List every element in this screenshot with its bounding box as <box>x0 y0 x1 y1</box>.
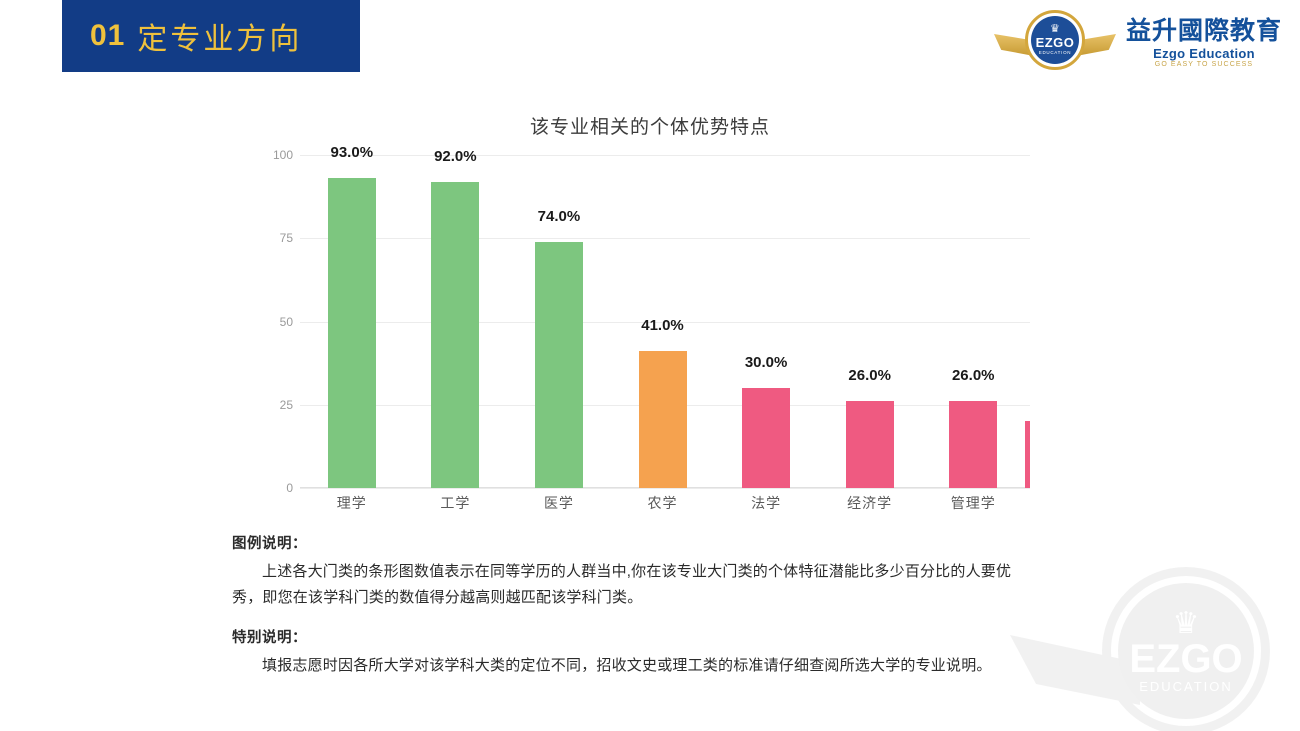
chart-bar-group[interactable]: 26.0% <box>921 155 1025 488</box>
chart-y-tick-label: 75 <box>233 231 293 245</box>
chart-x-tick-label: 农学 <box>611 493 715 513</box>
note-heading-legend: 图例说明： <box>232 532 1032 553</box>
logo-emblem-icon: ♛ EZGO EDUCATION <box>994 6 1116 80</box>
chart-x-tick-label <box>1025 493 1030 513</box>
brand-watermark: ♛ EZGO EDUCATION <box>1010 543 1300 731</box>
chart-bar-value-label: 26.0% <box>952 367 995 384</box>
logo-tagline: GO EASY TO SUCCESS <box>1155 61 1253 68</box>
watermark-badge-text: EZGO <box>1129 639 1242 679</box>
chart-bars: 93.0%92.0%74.0%41.0%30.0%26.0%26.0% <box>300 155 1030 488</box>
bar-chart: 93.0%92.0%74.0%41.0%30.0%26.0%26.0% 0255… <box>255 145 1045 515</box>
chart-bar-group[interactable]: 26.0% <box>818 155 922 488</box>
chart-bar-group[interactable] <box>1025 155 1030 488</box>
chart-bar-value-label: 41.0% <box>641 317 684 334</box>
logo-badge-sub: EDUCATION <box>1039 49 1071 56</box>
chart-x-tick-label: 法学 <box>714 493 818 513</box>
logo-wordmark: 益升國際教育 Ezgo Education GO EASY TO SUCCESS <box>1126 18 1282 68</box>
section-title: 定专业方向 <box>137 14 302 58</box>
brand-logo: ♛ EZGO EDUCATION 益升國際教育 Ezgo Education G… <box>994 6 1282 80</box>
chart-bar-value-label: 30.0% <box>745 354 788 371</box>
crown-icon: ♛ <box>1173 609 1200 639</box>
chart-x-axis-labels: 理学工学医学农学法学经济学管理学 <box>300 493 1030 513</box>
logo-shield-icon: ♛ EZGO EDUCATION <box>1031 16 1079 64</box>
logo-name-cn: 益升國際教育 <box>1126 18 1282 46</box>
chart-bar-group[interactable]: 74.0% <box>507 155 611 488</box>
watermark-ring-icon <box>1102 567 1270 731</box>
chart-bar[interactable] <box>328 178 376 488</box>
chart-bar-group[interactable]: 92.0% <box>404 155 508 488</box>
chart-y-tick-label: 0 <box>233 481 293 495</box>
logo-name-en: Ezgo Education <box>1153 46 1255 61</box>
chart-bar[interactable] <box>846 401 894 488</box>
chart-bar-value-label: 93.0% <box>331 144 374 161</box>
logo-badge-text: EZGO <box>1036 36 1075 49</box>
chart-bar-group[interactable]: 93.0% <box>300 155 404 488</box>
watermark-badge-sub: EDUCATION <box>1139 679 1233 694</box>
note-body-legend: 上述各大门类的条形图数值表示在同等学历的人群当中,你在该专业大门类的个体特征潜能… <box>232 559 1032 612</box>
chart-y-tick-label: 25 <box>233 398 293 412</box>
note-heading-special: 特别说明： <box>232 626 1032 647</box>
note-body-special: 填报志愿时因各所大学对该学科大类的定位不同，招收文史或理工类的标准请仔细查阅所选… <box>232 653 1032 679</box>
section-title-banner: 01 定专业方向 <box>62 0 360 72</box>
chart-x-tick-label: 管理学 <box>921 493 1025 513</box>
section-index: 01 <box>90 19 125 53</box>
chart-y-tick-label: 50 <box>233 315 293 329</box>
chart-x-tick-label: 工学 <box>404 493 508 513</box>
chart-plot-area: 93.0%92.0%74.0%41.0%30.0%26.0%26.0% <box>300 155 1030 488</box>
crown-icon: ♛ <box>1050 24 1060 35</box>
chart-bar[interactable] <box>535 242 583 488</box>
chart-bar[interactable] <box>639 351 687 488</box>
chart-bar-group[interactable]: 41.0% <box>611 155 715 488</box>
chart-bar-value-label: 74.0% <box>538 208 581 225</box>
chart-bar-value-label: 92.0% <box>434 148 477 165</box>
slide: 01 定专业方向 ♛ EZGO EDUCATION 益升國際教育 Ezgo Ed… <box>0 0 1300 731</box>
chart-bar[interactable] <box>949 401 997 488</box>
chart-bar[interactable] <box>431 182 479 488</box>
chart-bar-value-label: 26.0% <box>848 367 891 384</box>
chart-gridline <box>300 488 1030 489</box>
chart-x-tick-label: 医学 <box>507 493 611 513</box>
chart-bar-group[interactable]: 30.0% <box>714 155 818 488</box>
notes-section: 图例说明： 上述各大门类的条形图数值表示在同等学历的人群当中,你在该专业大门类的… <box>232 532 1032 679</box>
chart-y-tick-label: 100 <box>233 148 293 162</box>
chart-bar[interactable] <box>742 388 790 488</box>
chart-x-tick-label: 经济学 <box>818 493 922 513</box>
watermark-badge-icon: ♛ EZGO EDUCATION <box>1118 583 1254 719</box>
chart-title: 该专业相关的个体优势特点 <box>0 112 1300 139</box>
chart-bar[interactable] <box>1025 421 1030 488</box>
chart-x-tick-label: 理学 <box>300 493 404 513</box>
